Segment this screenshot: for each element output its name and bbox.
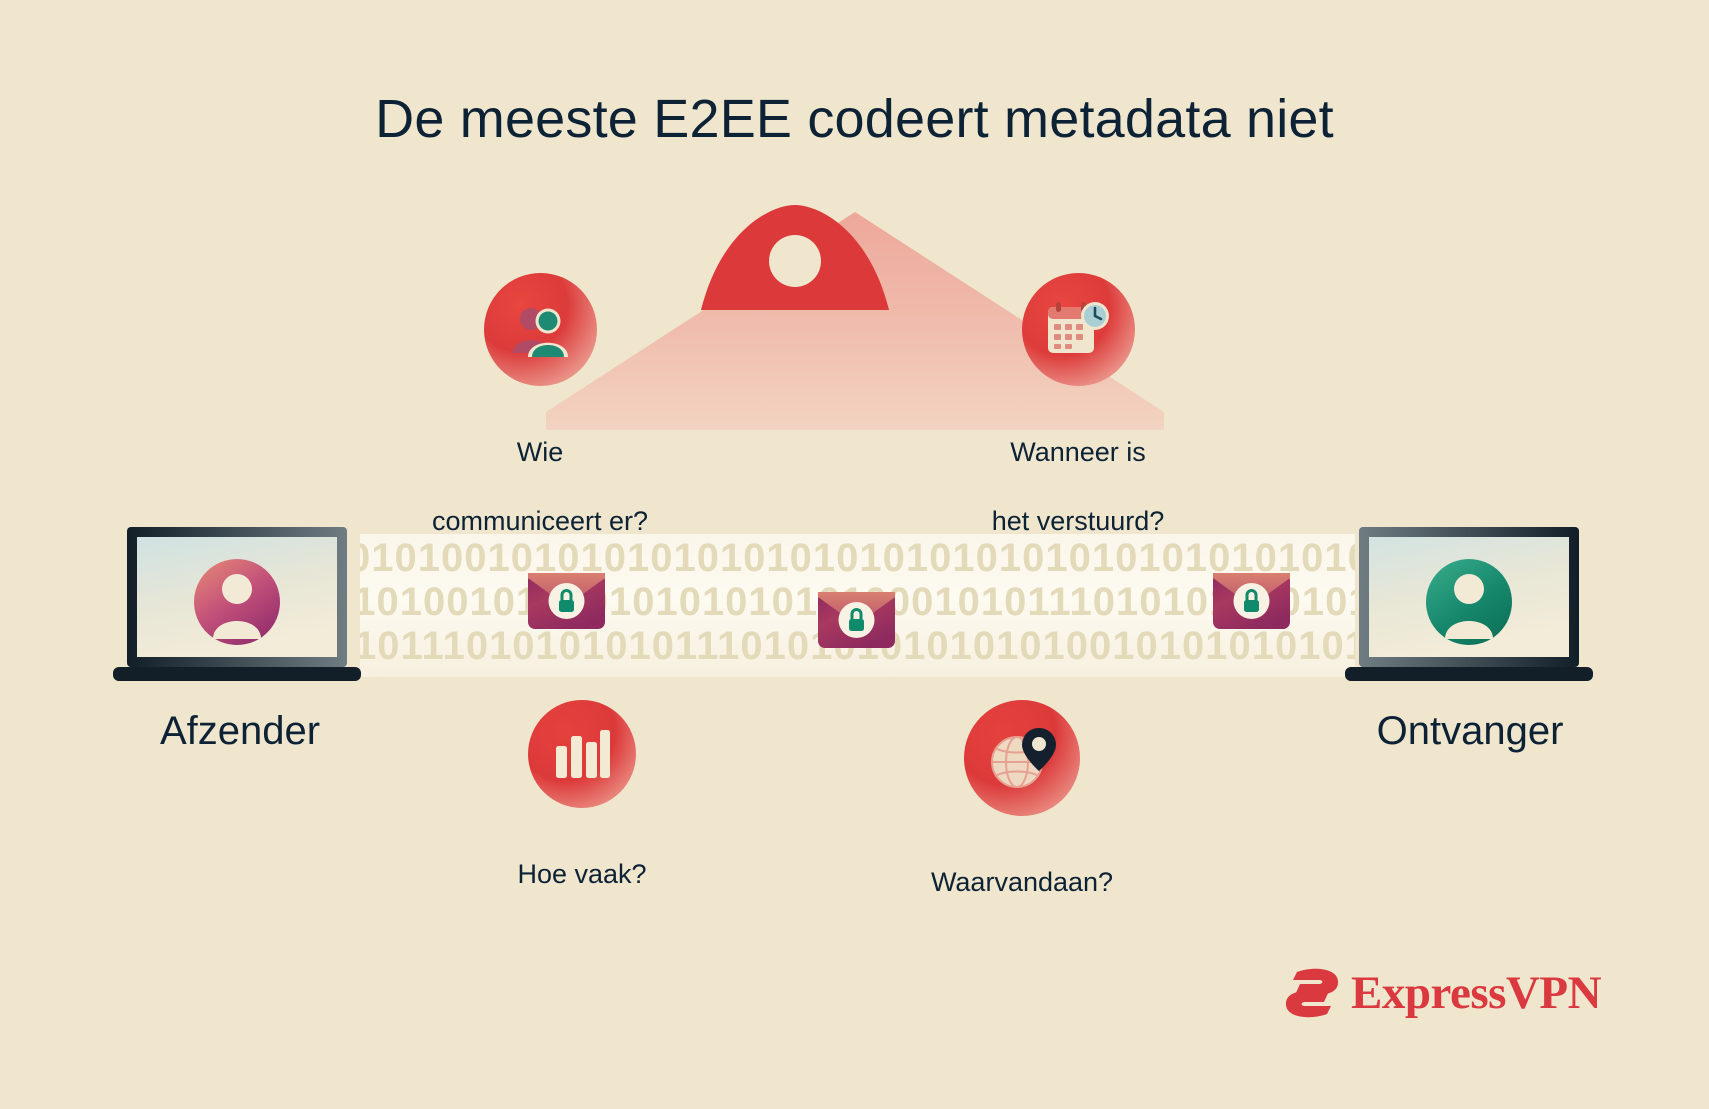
metadata-node-often: Hoe vaak? <box>452 700 712 926</box>
infographic-canvas: De meeste E2EE codeert metadata niet <box>0 0 1709 1109</box>
receiver-label: Ontvanger <box>1320 709 1620 754</box>
calendar-clock-icon <box>1022 273 1135 386</box>
bar-chart-icon <box>528 700 636 808</box>
eye-icon <box>701 205 889 310</box>
node-label-who-line2: communiceert er? <box>400 504 680 539</box>
node-label-where-line1: Waarvandaan? <box>872 865 1172 900</box>
node-label-when-line2: het verstuurd? <box>928 504 1228 539</box>
node-label-often-line1: Hoe vaak? <box>452 857 712 892</box>
node-label-who-line1: Wie <box>400 435 680 470</box>
receiver-laptop <box>1345 527 1593 695</box>
node-label-where: Waarvandaan? <box>872 830 1172 934</box>
page-title: De meeste E2EE codeert metadata niet <box>0 88 1709 150</box>
expressvpn-wordmark: ExpressVPN <box>1351 966 1601 1020</box>
locked-envelope-icon <box>528 573 605 629</box>
locked-envelope-icon <box>1213 573 1290 629</box>
node-label-when-line1: Wanneer is <box>928 435 1228 470</box>
users-icon <box>484 273 597 386</box>
metadata-node-when: Wanneer is het verstuurd? <box>928 273 1228 573</box>
node-label-often: Hoe vaak? <box>452 822 712 926</box>
metadata-node-where: Waarvandaan? <box>872 700 1172 934</box>
sender-label: Afzender <box>95 709 385 754</box>
expressvpn-mark-icon <box>1283 968 1341 1018</box>
sender-laptop <box>113 527 361 695</box>
globe-pin-icon <box>964 700 1080 816</box>
metadata-node-who: Wie communiceert er? <box>400 273 680 573</box>
binary-stream-row-1: 0101001010101010101010101010101010101010… <box>360 536 1355 581</box>
locked-envelope-icon <box>818 592 895 648</box>
expressvpn-logo[interactable]: ExpressVPN <box>1283 966 1601 1020</box>
